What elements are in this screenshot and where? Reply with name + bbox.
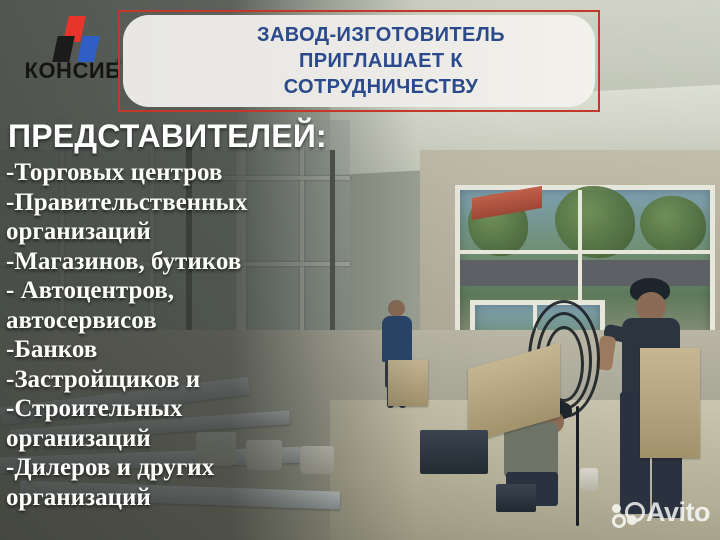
advertisement-image: КОНСИБ ® ЗАВОД-ИЗГОТОВИТЕЛЬ ПРИГЛАШАЕТ К…: [0, 0, 720, 540]
avito-dot: [612, 504, 621, 513]
brand-logo: КОНСИБ ®: [18, 16, 128, 94]
list-item: -Дилеров и других организаций: [6, 453, 336, 512]
avito-watermark: Avito: [612, 499, 710, 526]
list-item: - Автоцентров, автосервисов: [6, 276, 336, 335]
material-bundle: [388, 360, 428, 406]
tool-case: [420, 430, 488, 474]
avito-logo-icon: [612, 502, 642, 524]
logo-mark-icon: [44, 16, 108, 62]
avito-wordmark: Avito: [646, 499, 710, 526]
list-item: -Банков: [6, 335, 336, 365]
avito-ring: [612, 514, 626, 528]
list-item: -Застройщиков и: [6, 365, 336, 395]
logo-wordmark: КОНСИБ: [18, 60, 128, 82]
window-transom: [460, 250, 710, 254]
page-title: ПРЕДСТАВИТЕЛЕЙ:: [8, 118, 327, 155]
list-item: -Торговых центров: [6, 158, 336, 188]
list-item: -Магазинов, бутиков: [6, 247, 336, 277]
banner-text: ЗАВОД-ИЗГОТОВИТЕЛЬ ПРИГЛАШАЕТ К СОТРУДНИ…: [213, 22, 505, 100]
tree-outside: [640, 196, 706, 254]
representatives-list: -Торговых центров -Правительственных орг…: [6, 158, 336, 512]
person-head: [388, 300, 405, 317]
avito-dot: [627, 515, 637, 525]
list-item: -Правительственных организаций: [6, 188, 336, 247]
bottle: [580, 468, 598, 492]
tree-outside: [555, 186, 635, 258]
headline-banner: ЗАВОД-ИЗГОТОВИТЕЛЬ ПРИГЛАШАЕТ К СОТРУДНИ…: [118, 10, 600, 112]
tool-case: [496, 484, 536, 512]
banner-panel: ЗАВОД-ИЗГОТОВИТЕЛЬ ПРИГЛАШАЕТ К СОТРУДНИ…: [123, 15, 595, 107]
person-torso: [382, 316, 412, 362]
list-item: -Строительных организаций: [6, 394, 336, 453]
plywood-sheet: [640, 348, 700, 458]
